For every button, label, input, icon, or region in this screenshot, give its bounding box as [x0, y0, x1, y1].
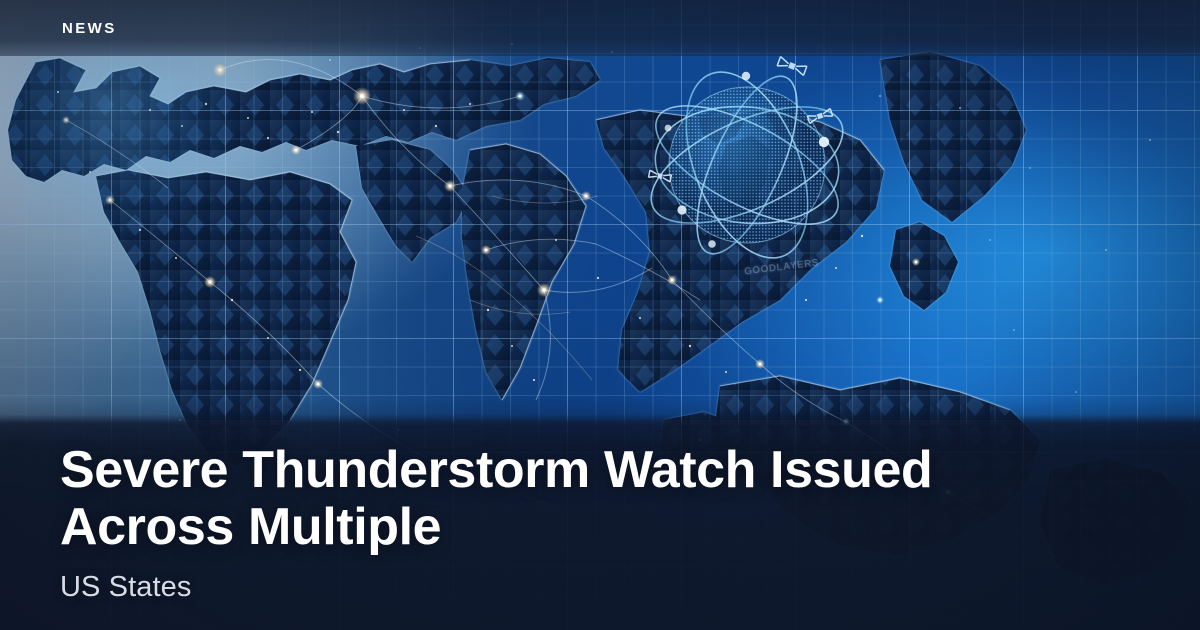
page-title: Severe Thunderstorm Watch Issued Across …: [60, 442, 980, 556]
news-category-bar: NEWS: [0, 0, 1200, 56]
page-subtitle: US States: [60, 570, 1080, 605]
headline-block: Severe Thunderstorm Watch Issued Across …: [0, 442, 1080, 605]
news-hero-card: GOODLAYERS NEWS Severe Thunderstorm Watc…: [0, 0, 1200, 630]
category-label: NEWS: [62, 20, 117, 37]
wireframe-globe: [640, 58, 854, 272]
